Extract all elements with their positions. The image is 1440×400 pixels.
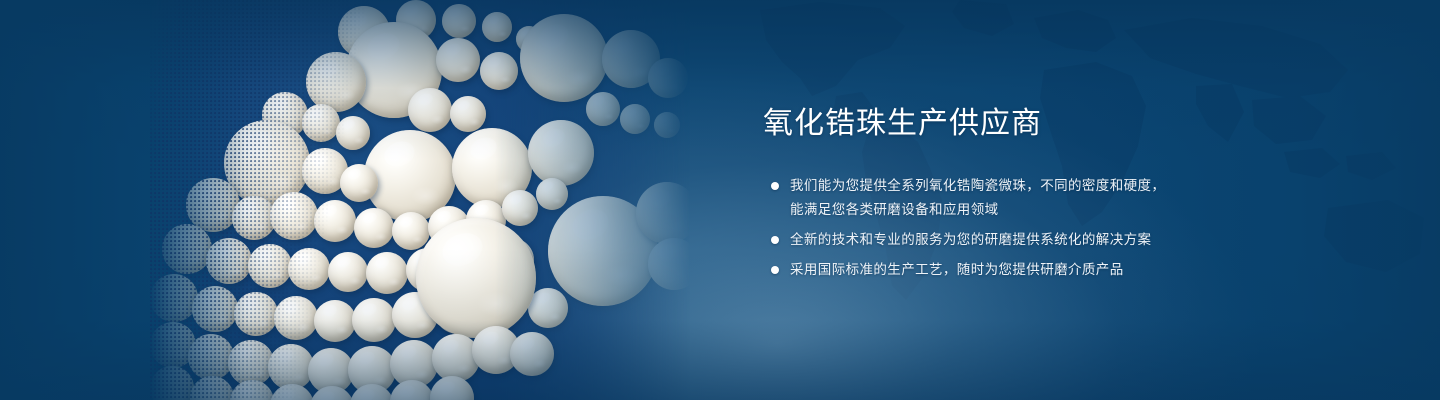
list-item: 我们能为您提供全系列氧化锆陶瓷微珠，不同的密度和硬度， 能满足您各类研磨设备和应… — [763, 174, 1323, 222]
list-item: 全新的技术和专业的服务为您的研磨提供系统化的解决方案 — [763, 228, 1323, 252]
list-item-text: 我们能为您提供全系列氧化锆陶瓷微珠，不同的密度和硬度， — [790, 178, 1165, 193]
list-item-text: 采用国际标准的生产工艺，随时为您提供研磨介质产品 — [790, 262, 1124, 277]
list-item: 采用国际标准的生产工艺，随时为您提供研磨介质产品 — [763, 258, 1323, 282]
bullet-dot-icon — [771, 266, 779, 274]
list-item-text: 全新的技术和专业的服务为您的研磨提供系统化的解决方案 — [790, 232, 1151, 247]
banner-copy: 氧化锆珠生产供应商 我们能为您提供全系列氧化锆陶瓷微珠，不同的密度和硬度， 能满… — [763, 104, 1323, 282]
feature-list: 我们能为您提供全系列氧化锆陶瓷微珠，不同的密度和硬度， 能满足您各类研磨设备和应… — [763, 174, 1323, 282]
hero-banner: 氧化锆珠生产供应商 我们能为您提供全系列氧化锆陶瓷微珠，不同的密度和硬度， 能满… — [0, 0, 1440, 400]
bullet-dot-icon — [771, 236, 779, 244]
list-item-text-line2: 能满足您各类研磨设备和应用领域 — [790, 198, 1323, 222]
page-title: 氧化锆珠生产供应商 — [763, 104, 1323, 144]
bullet-dot-icon — [771, 182, 779, 190]
